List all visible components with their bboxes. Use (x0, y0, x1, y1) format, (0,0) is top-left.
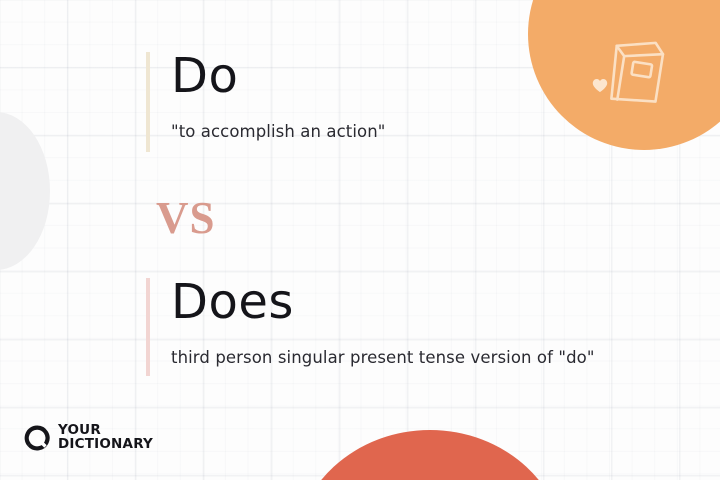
term-does: Does (171, 278, 595, 326)
gray-circle-decoration (0, 112, 50, 270)
definition-entry-do: Do "to accomplish an action" (146, 52, 385, 141)
logo-wordmark: YOUR DICTIONARY (58, 424, 153, 451)
definition-entry-does: Does third person singular present tense… (146, 278, 595, 367)
entry-accent-bar-does (146, 278, 150, 376)
book-icon (599, 32, 671, 111)
definition-do: "to accomplish an action" (171, 122, 385, 141)
logo-line-2: DICTIONARY (58, 438, 153, 452)
term-do: Do (171, 52, 385, 100)
graphic-canvas: Do "to accomplish an action" VS Does thi… (0, 0, 720, 480)
coral-circle-decoration (294, 430, 566, 480)
heart-icon (592, 78, 608, 93)
yourdictionary-logo: YOUR DICTIONARY (24, 424, 153, 451)
yourdictionary-q-mark-icon (24, 425, 50, 451)
versus-label: VS (156, 196, 216, 241)
entry-accent-bar-do (146, 52, 150, 152)
definition-does: third person singular present tense vers… (171, 348, 595, 367)
